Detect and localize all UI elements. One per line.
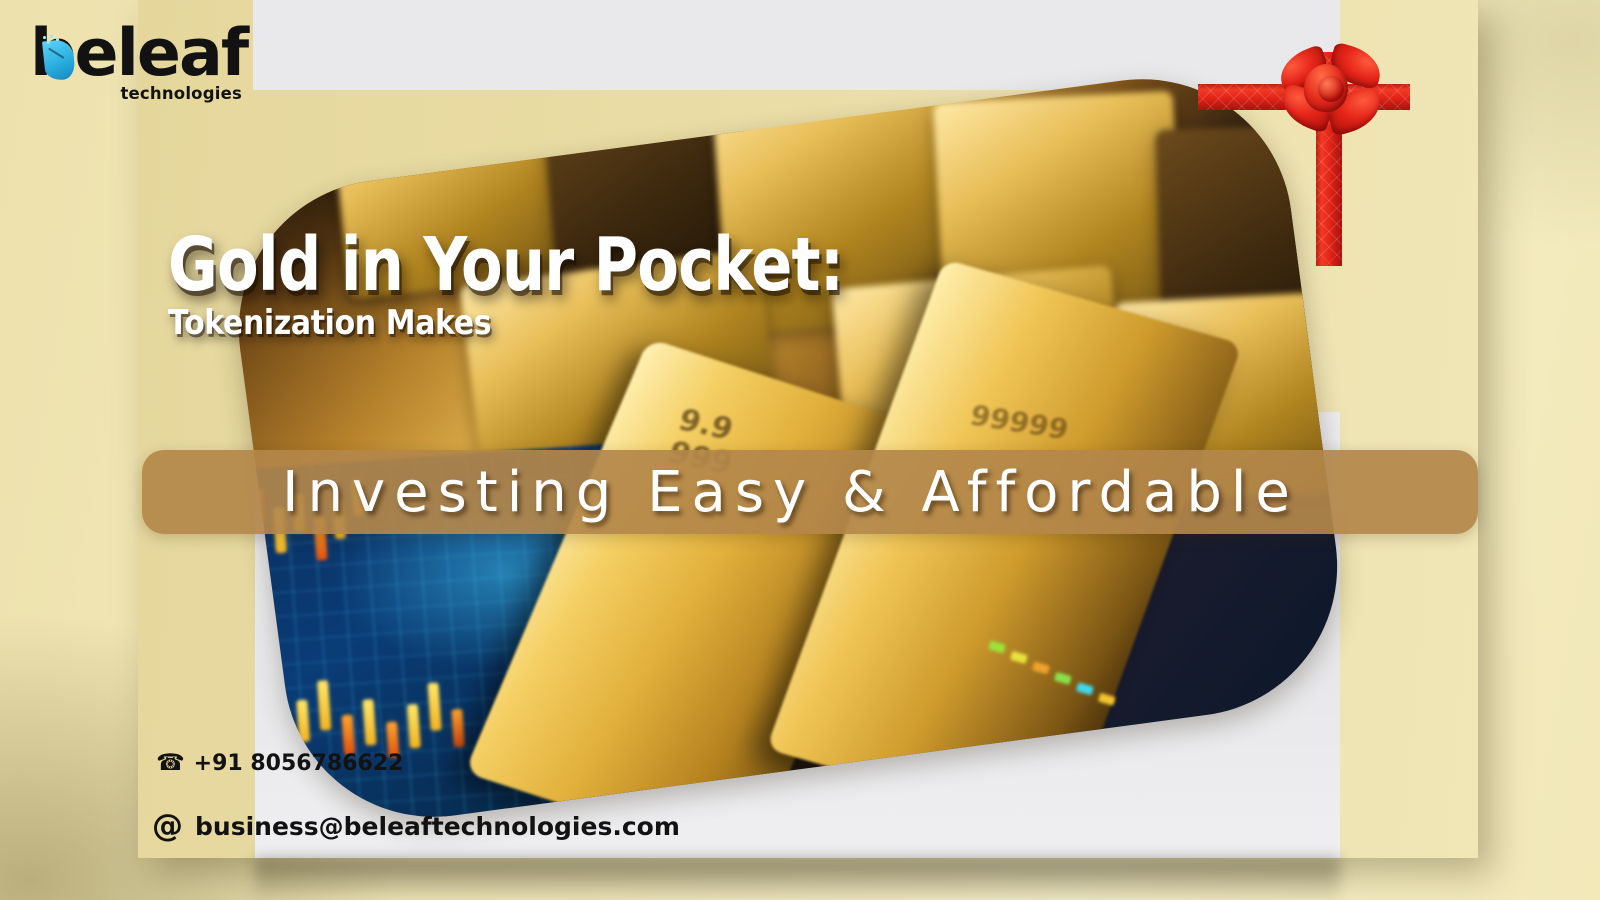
leaf-sparkle-dots-icon <box>41 35 63 47</box>
contact-phone[interactable]: ☎ +91 8056786622 <box>156 750 403 776</box>
contact-phone-text: +91 8056786622 <box>194 751 404 776</box>
at-sign-icon: @ <box>152 808 183 844</box>
phone-icon: ☎ <box>156 750 185 776</box>
panel-drop-shadow <box>255 858 1340 900</box>
page-title: Gold in Your Pocket: <box>168 228 808 302</box>
contact-email[interactable]: @ business@beleaftechnologies.com <box>152 808 680 844</box>
tagline-text: Investing Easy & Affordable <box>282 460 1299 525</box>
gold-bar-stamp-secondary: 99999 <box>967 399 1071 446</box>
poster-canvas: 9.9999 99999 beleaf technologies <box>0 0 1600 900</box>
brand-logo[interactable]: beleaf technologies <box>30 22 240 106</box>
brand-tagline: technologies <box>120 84 242 103</box>
contact-email-text: business@beleaftechnologies.com <box>195 812 680 841</box>
page-subtitle: Tokenization Makes <box>168 305 491 341</box>
gift-ribbon-bow-icon <box>1230 16 1410 266</box>
tagline-banner: Investing Easy & Affordable <box>142 450 1478 534</box>
ribbon-bow <box>1282 46 1382 138</box>
